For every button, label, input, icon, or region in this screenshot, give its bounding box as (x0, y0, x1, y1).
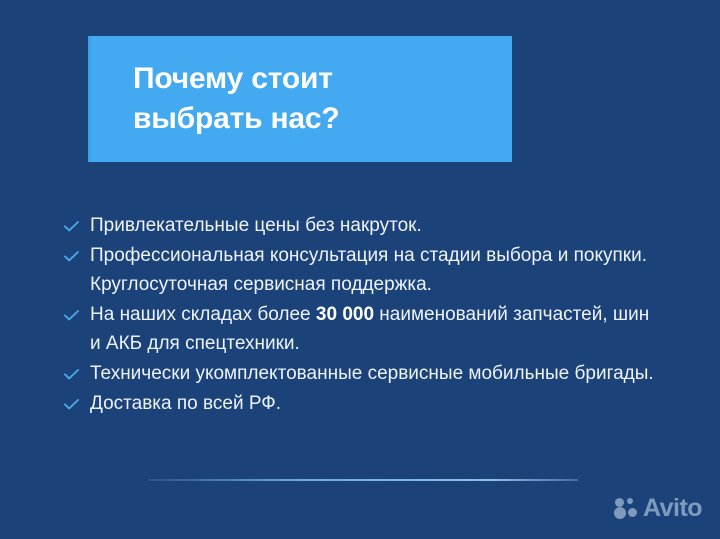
page-title-line-1: Почему стоит (133, 59, 512, 99)
list-item-text-main: Профессиональная консультация на стадии … (90, 245, 647, 295)
list-item: Технически укомплектованные сервисные мо… (64, 359, 674, 388)
check-icon (64, 211, 90, 232)
list-item-text-main: На наших складах более (90, 304, 316, 325)
list-item-text: Привлекательные цены без накруток. (90, 211, 658, 240)
list-item-text: Профессиональная консультация на стадии … (90, 241, 658, 299)
list-item: Профессиональная консультация на стадии … (64, 241, 674, 299)
check-icon (64, 241, 90, 262)
list-item: Доставка по всей РФ. (64, 389, 674, 418)
avito-watermark: Avito (614, 496, 702, 521)
list-item-text: Технически укомплектованные сервисные мо… (90, 359, 658, 388)
check-icon (64, 359, 90, 380)
avito-dots-logo-icon (614, 497, 640, 521)
list-item-text-bold: 30 000 (316, 304, 374, 325)
divider (148, 479, 578, 481)
list-item-text: Доставка по всей РФ. (90, 389, 658, 418)
page-title-line-2: выбрать нас? (133, 99, 512, 139)
benefits-list: Привлекательные цены без накруток. Профе… (64, 211, 674, 419)
list-item: Привлекательные цены без накруток. (64, 211, 674, 240)
list-item: На наших складах более 30 000 наименован… (64, 300, 674, 358)
check-icon (64, 389, 90, 410)
avito-wordmark: Avito (643, 496, 702, 521)
list-item-text-main: Доставка по всей РФ. (90, 393, 281, 414)
list-item-text-main: Технически укомплектованные сервисные мо… (90, 363, 654, 384)
check-icon (64, 300, 90, 321)
presentation-slide: Почему стоит выбрать нас? Привлекательны… (0, 0, 720, 539)
list-item-text-main: Привлекательные цены без накруток. (90, 215, 422, 236)
list-item-text: На наших складах более 30 000 наименован… (90, 300, 658, 358)
title-banner: Почему стоит выбрать нас? (88, 36, 512, 162)
